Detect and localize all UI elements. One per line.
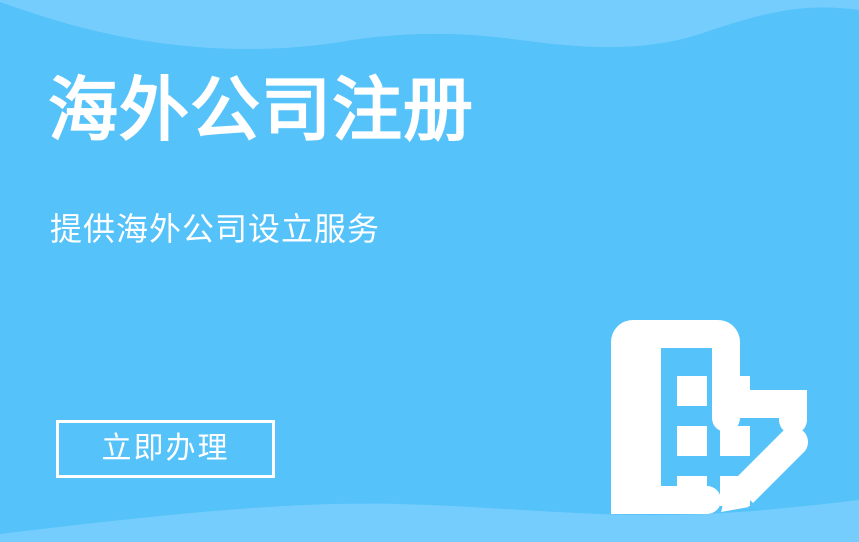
page-title: 海外公司注册 (48, 68, 474, 152)
building-edit-icon (603, 298, 815, 520)
apply-now-button[interactable]: 立即办理 (56, 420, 275, 478)
overseas-company-registration-banner: 海外公司注册 提供海外公司设立服务 立即办理 (0, 0, 859, 542)
page-subtitle: 提供海外公司设立服务 (50, 206, 380, 252)
banner-content: 海外公司注册 提供海外公司设立服务 立即办理 (48, 0, 608, 542)
